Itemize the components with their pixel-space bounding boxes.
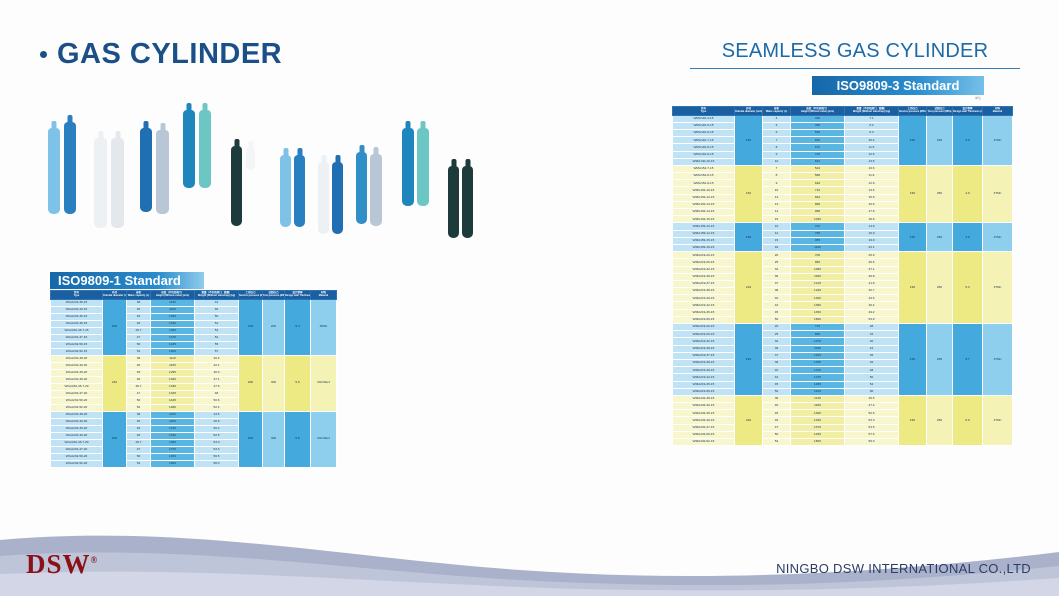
table-cell: 23.1	[845, 244, 899, 251]
gas-cylinder-shape	[318, 162, 329, 234]
table-cell: 52.4	[195, 404, 239, 411]
table-cell: 250	[927, 165, 953, 223]
section-title: SEAMLESS GAS CYLINDER	[690, 40, 1020, 69]
table-cell: 232	[103, 299, 127, 355]
table-cell: 200	[263, 299, 285, 355]
gas-cylinder-shape	[231, 146, 242, 226]
table-cell: 1375	[791, 374, 845, 381]
column-header-5: 工作压力Service pressure (MPa)	[239, 291, 263, 300]
table-row: WMA159-10-151591037014.81502504.237Mn	[673, 223, 1013, 230]
bullet-dot-icon	[40, 51, 47, 58]
company-name: NINGBO DSW INTERNATIONAL CO.,LTD	[776, 561, 1031, 576]
table-cell: WGA232-40-20	[51, 418, 103, 425]
table-cell: 460	[791, 122, 845, 129]
table-cell: 150	[899, 165, 927, 223]
table-row: WMA219-20-1521920715281502505.737Mn	[673, 324, 1013, 331]
table-cell: WMA219-50-15	[673, 388, 735, 395]
table-cell: WGA232-38-20	[51, 355, 103, 362]
table-cell: WGA232-47-15	[51, 334, 103, 341]
table-cell: 37.1	[845, 266, 899, 273]
table-cell: 1360	[151, 439, 195, 446]
table-cell: 45	[127, 369, 151, 376]
column-header-3: 高度（不包括阀门）Height (Without valve) (mm)	[151, 291, 195, 300]
table-cell: 46.7	[127, 439, 151, 446]
table-cell: 8	[763, 173, 791, 180]
table-cell: WMA219-40-15	[673, 367, 735, 374]
table-cell: 9	[763, 180, 791, 187]
table-cell: WGA232-46-15	[51, 320, 103, 327]
table-cell: WMA219-45-15	[673, 309, 735, 316]
table-cell: 15	[763, 237, 791, 244]
table-cell: WMA219-25-15	[673, 331, 735, 338]
table-cell: WMA152-7-15	[673, 165, 735, 172]
table-cell: 150	[899, 115, 927, 165]
table-cell: WGA232-46.7-15	[51, 327, 103, 334]
table-cell: 47.6	[195, 383, 239, 390]
table-cell: 740	[791, 151, 845, 158]
table-cell: 10	[763, 223, 791, 230]
table-cell: 47.4	[845, 403, 899, 410]
table-cell: WMA140-5-15	[673, 122, 735, 129]
table-cell: 50	[195, 313, 239, 320]
cylinder-neck-icon	[297, 148, 302, 156]
table-cell: 1330	[151, 383, 195, 390]
table-cell: 1465	[791, 381, 845, 388]
table-cell: 47	[127, 390, 151, 397]
table-cell: 8	[763, 144, 791, 151]
table-cell: WGA232-50-20	[51, 453, 103, 460]
table-cell: 46	[127, 432, 151, 439]
table-cell: 4.2	[953, 223, 983, 252]
cylinder-neck-icon	[234, 139, 239, 147]
table-cell: WGA232-50-15	[51, 341, 103, 348]
table-cell: WMA219-38-15	[673, 288, 735, 295]
column-header-1: 外径Outside diameter (mm)	[103, 291, 127, 300]
table-cell: 53.3	[195, 446, 239, 453]
table-cell: 250	[927, 115, 953, 165]
table-cell: 30.6	[845, 259, 899, 266]
title-underline	[690, 68, 1020, 69]
column-header-6: 试验压力Test pressure (MPa)	[263, 291, 285, 300]
table-cell: 5.7	[953, 324, 983, 396]
table-cell: 1060	[791, 266, 845, 273]
page-title: GAS CYLINDER	[40, 38, 282, 71]
registered-mark: ®	[91, 555, 99, 565]
table-cell: 40.4	[845, 137, 899, 144]
gas-cylinder-shape	[48, 128, 60, 214]
slide-page: GAS CYLINDER SEAMLESS GAS CYLINDER ISO98…	[0, 0, 1059, 596]
table-cell: 1370	[151, 334, 195, 341]
table-cell: 1300	[791, 295, 845, 302]
table-cell: 700	[791, 252, 845, 259]
table-cell: 1340	[151, 432, 195, 439]
iso9809-3-banner: ISO9809-3 Standard	[812, 76, 984, 95]
table-cell: WGA232-46-20	[51, 376, 103, 383]
table-cell: 150	[899, 252, 927, 324]
table-cell: 5.4	[285, 299, 311, 355]
table-cell: 40	[127, 306, 151, 313]
table-cell: 648	[791, 180, 845, 187]
table-cell: WMA232-38-15	[673, 395, 735, 402]
table-cell: 10.6	[845, 165, 899, 172]
table-cell: 4.0	[953, 165, 983, 223]
gas-cylinder-shape	[370, 154, 382, 226]
table-cell: WMA219-40-15	[673, 295, 735, 302]
table-cell: 53.3	[845, 417, 899, 424]
table-cell: 13.6	[845, 158, 899, 165]
table-cell: WMA219-37-15	[673, 352, 735, 359]
table-cell: 1315	[791, 367, 845, 374]
table-cell: 1130	[151, 299, 195, 306]
table-cell: 715	[791, 324, 845, 331]
gas-cylinder-shape	[356, 152, 367, 224]
table-cell: 59.3	[845, 439, 899, 446]
gas-cylinder-shape	[199, 110, 211, 188]
table-cell: 46.3	[195, 369, 239, 376]
table-cell: 16.9	[845, 230, 899, 237]
table-cell: 1210	[791, 280, 845, 287]
table-cell: WMA140-9-15	[673, 151, 735, 158]
table-cell: 1195	[791, 345, 845, 352]
table-cell: 57.5	[845, 431, 899, 438]
page-title-text: GAS CYLINDER	[57, 38, 282, 71]
table-cell: 40.8	[845, 273, 899, 280]
table-cell: 9.3	[845, 129, 899, 136]
table-cell: 41.8	[845, 280, 899, 287]
table-cell: 52	[127, 404, 151, 411]
table-cell: 14	[763, 209, 791, 216]
table-cell: 46	[127, 376, 151, 383]
table-cell: 1180	[151, 418, 195, 425]
table-cell: WGA232-38-20	[51, 411, 103, 418]
table-cell: 28	[845, 324, 899, 331]
table-cell: 1370	[151, 446, 195, 453]
table-cell: 3.6	[953, 115, 983, 165]
table-cell: 38	[763, 288, 791, 295]
iso9809-1-table: 型号Type外径Outside diameter (mm)容积Water cap…	[50, 290, 337, 468]
table-cell: WMA219-42-15	[673, 302, 735, 309]
table-cell: 16.6	[845, 201, 899, 208]
table-cell: 46	[127, 320, 151, 327]
table-cell: 40	[845, 338, 899, 345]
table-cell: 38	[763, 395, 791, 402]
table-cell: 52.5	[195, 432, 239, 439]
table-cell: 524	[791, 165, 845, 172]
table-cell: WMA219-37-15	[673, 280, 735, 287]
table-cell: 47	[763, 424, 791, 431]
cylinder-neck-icon	[98, 131, 103, 139]
table-cell: WMA152-12-15	[673, 194, 735, 201]
table-cell: 1310	[151, 425, 195, 432]
table-cell: 57	[195, 348, 239, 355]
cylinder-neck-icon	[421, 121, 426, 129]
table-cell: 150	[899, 223, 927, 252]
cylinder-neck-icon	[203, 103, 208, 111]
table-cell: 60	[845, 388, 899, 395]
table-cell: 300	[263, 411, 285, 467]
table-cell: 9	[763, 151, 791, 158]
table-cell: 200	[239, 411, 263, 467]
table-cell: WMA219-38-15	[673, 359, 735, 366]
gas-cylinder-shape	[246, 148, 255, 170]
table-cell: 34CrMo4	[311, 355, 337, 411]
table-cell: WMA159-15-15	[673, 237, 735, 244]
table-cell: 12.5	[845, 151, 899, 158]
table-cell: 42.7	[845, 288, 899, 295]
table-cell: 37	[763, 352, 791, 359]
table-cell: 896	[791, 201, 845, 208]
table-cell: 25.9	[845, 252, 899, 259]
table-cell: 38	[127, 355, 151, 362]
table-cell: WGA232-45-15	[51, 313, 103, 320]
table-cell: WMA219-32-15	[673, 266, 735, 273]
table-cell: 300	[263, 355, 285, 411]
table-cell: 10	[763, 187, 791, 194]
table-cell: 42.1	[195, 362, 239, 369]
table-cell: 200	[239, 355, 263, 411]
table-cell: WGA232-46.7-20	[51, 383, 103, 390]
table-cell: 45	[763, 381, 791, 388]
column-header-7: 设计壁厚Design wall Thickness (mm)	[953, 107, 983, 116]
table-cell: 50.2	[195, 425, 239, 432]
table-cell: 1370	[791, 424, 845, 431]
column-header-0: 型号Type	[673, 107, 735, 116]
table-row: WGA232-38-2023238112544.52003005.834CrMo…	[51, 411, 337, 418]
table-cell: 38	[127, 299, 151, 306]
table-cell: 785	[791, 230, 845, 237]
table-cell: 1360	[151, 327, 195, 334]
table-cell: 48	[845, 367, 899, 374]
table-cell: 5.9	[285, 355, 311, 411]
table-cell: 865	[791, 331, 845, 338]
table-cell: 20	[763, 324, 791, 331]
table-cell: 1345	[151, 390, 195, 397]
table-cell: 1075	[791, 338, 845, 345]
table-cell: 150	[899, 324, 927, 396]
table-cell: 52	[127, 348, 151, 355]
table-cell: 4	[763, 115, 791, 122]
table-cell: WMA140-4-15	[673, 115, 735, 122]
table-cell: WGA232-40-20	[51, 362, 103, 369]
table-cell: 46	[195, 306, 239, 313]
table-cell: 46.5	[195, 418, 239, 425]
cylinder-neck-icon	[187, 103, 192, 111]
gas-cylinder-shape	[417, 128, 429, 206]
table-cell: 38	[763, 359, 791, 366]
table-cell: WGA232-47-20	[51, 390, 103, 397]
table-cell: 1255	[791, 359, 845, 366]
gas-cylinder-shape	[402, 128, 414, 206]
table-cell: 1190	[151, 306, 195, 313]
table-cell: 7.1	[845, 115, 899, 122]
table-cell: 1110	[151, 355, 195, 362]
table-row: WGA232-38-2023238111040.22003005.934CrMo…	[51, 355, 337, 362]
table-cell: WMA219-20-15	[673, 324, 735, 331]
cylinder-neck-icon	[451, 159, 456, 167]
table-cell: 1445	[151, 341, 195, 348]
iso9809-1-banner: ISO9809-1 Standard	[50, 272, 204, 289]
table-cell: WMA232-50-15	[673, 431, 735, 438]
cylinder-neck-icon	[374, 147, 379, 155]
table-cell: 46.7	[127, 383, 151, 390]
table-cell: 150	[899, 395, 927, 445]
cylinder-neck-icon	[68, 115, 73, 123]
gas-cylinder-shape	[294, 155, 305, 227]
table-cell: WMA219-20-15	[673, 252, 735, 259]
table-cell: 850	[791, 259, 845, 266]
table-cell: 32	[763, 338, 791, 345]
table-cell: 50	[127, 397, 151, 404]
table-cell: WMA152-13-15	[673, 201, 735, 208]
table-cell: 52	[195, 334, 239, 341]
table-cell: 5	[763, 122, 791, 129]
table-cell: 232	[103, 411, 127, 467]
table-cell: 1240	[791, 288, 845, 295]
table-cell: WMA219-45-15	[673, 381, 735, 388]
table-cell: 25	[763, 331, 791, 338]
table-cell: WMA219-36-15	[673, 273, 735, 280]
table-row: WMA140-4-1514043907.11502503.637Mn	[673, 115, 1013, 122]
table-cell: 1180	[791, 403, 845, 410]
table-cell: WGA232-38-15	[51, 299, 103, 306]
table-cell: 955	[791, 237, 845, 244]
table-row: WMA219-20-152192070025.91502505.337Mn	[673, 252, 1013, 259]
table-cell: 150	[239, 299, 263, 355]
gas-cylinder-shape	[183, 110, 195, 188]
table-cell: 37Mn	[983, 395, 1013, 445]
table-cell: WGA232-40-15	[51, 306, 103, 313]
column-header-5: 工作压力Service pressure (MPa)	[899, 107, 927, 116]
table-cell: 37	[763, 280, 791, 287]
table-cell: 45	[845, 352, 899, 359]
table-cell: 45	[127, 313, 151, 320]
table-cell: 1425	[151, 397, 195, 404]
table-cell: 40	[127, 362, 151, 369]
table-cell: WMA219-50-15	[673, 316, 735, 323]
table-cell: 42	[763, 302, 791, 309]
table-cell: 19.9	[845, 237, 899, 244]
table-cell: 50	[127, 453, 151, 460]
table-cell: 15	[763, 216, 791, 223]
cylinder-neck-icon	[160, 123, 165, 131]
table-cell: 53.9	[845, 316, 899, 323]
table-cell: 20	[763, 252, 791, 259]
table-cell: 1340	[791, 417, 845, 424]
table-cell: 1450	[151, 453, 195, 460]
gas-cylinder-shape	[64, 122, 76, 214]
table-cell: 33	[845, 331, 899, 338]
table-cell: WGA232-52-20	[51, 460, 103, 467]
table-cell: WMA159-10-15	[673, 223, 735, 230]
iso9809-3-table: 型号Type外径Outside diameter (mm)容积Water cap…	[672, 106, 1013, 446]
table-cell: 8.2	[845, 122, 899, 129]
table-cell: WMA140-7-15	[673, 137, 735, 144]
table-cell: 50	[845, 374, 899, 381]
table-cell: 18.6	[845, 216, 899, 223]
table-cell: 44.5	[845, 295, 899, 302]
gas-cylinder-shape	[280, 155, 291, 227]
gas-cylinder-shape	[448, 166, 459, 238]
table-cell: 1500	[151, 348, 195, 355]
column-header-6: 试验压力Test pressure (MPa)	[927, 107, 953, 116]
table-cell: 37Mn	[983, 324, 1013, 396]
table-cell: 670	[791, 144, 845, 151]
table-cell: 159	[735, 223, 763, 252]
table-cell: 40.2	[195, 355, 239, 362]
table-cell: 30Mn	[311, 299, 337, 355]
table-cell: WMA219-36-15	[673, 345, 735, 352]
table-cell: 54	[845, 381, 899, 388]
table-cell: 13	[763, 201, 791, 208]
table-cell: 250	[927, 324, 953, 396]
table-cell: 37Mn	[983, 115, 1013, 165]
table-cell: WMA232-47-15	[673, 424, 735, 431]
table-cell: WGA232-45-20	[51, 369, 103, 376]
table-cell: 1130	[791, 244, 845, 251]
table-cell: 1130	[791, 395, 845, 402]
table-cell: 47	[127, 446, 151, 453]
gas-cylinder-shape	[111, 138, 124, 228]
table-cell: WGA232-52-15	[51, 348, 103, 355]
table-cell: WMA152-14-15	[673, 209, 735, 216]
table-cell: WGA232-46.7-20	[51, 439, 103, 446]
table-cell: 152	[735, 165, 763, 223]
table-cell: WGA232-50-20	[51, 397, 103, 404]
table-cell: 6.0	[953, 395, 983, 445]
table-cell: WMA232-40-15	[673, 403, 735, 410]
table-row: WGA232-38-15232381130441502005.430Mn	[51, 299, 337, 306]
table-cell: 46.4	[845, 302, 899, 309]
gas-cylinder-shape	[462, 166, 473, 238]
table-cell: 1600	[791, 316, 845, 323]
cylinder-neck-icon	[248, 141, 253, 149]
table-cell: 140	[735, 115, 763, 165]
table-cell: 50	[763, 316, 791, 323]
table-cell: 37Mn	[983, 165, 1013, 223]
table-cell: 1450	[791, 309, 845, 316]
table-cell: 36	[763, 273, 791, 280]
table-cell: 51	[195, 320, 239, 327]
table-cell: 250	[927, 223, 953, 252]
table-cell: 1320	[151, 313, 195, 320]
logo-text: DSW	[26, 549, 91, 579]
table-cell: 12	[763, 230, 791, 237]
table-cell: 1360	[791, 302, 845, 309]
table-cell: 834	[791, 194, 845, 201]
table-cell: 46.7	[127, 327, 151, 334]
table-cell: 38	[127, 411, 151, 418]
table-cell: 7	[763, 165, 791, 172]
table-cell: WMA140-6-15	[673, 129, 735, 136]
cylinder-neck-icon	[52, 121, 57, 129]
unit-note: 单位	[975, 96, 981, 100]
table-cell: WMA232-45-15	[673, 410, 735, 417]
table-cell: 46	[845, 359, 899, 366]
footer: DSW® NINGBO DSW INTERNATIONAL CO.,LTD	[0, 530, 1059, 596]
column-header-4: 重量（不包括阀门、瓶帽）Weight (Without valve/cap) (…	[845, 107, 899, 116]
table-cell: 11.5	[845, 144, 899, 151]
table-cell: WMA232-52-15	[673, 439, 735, 446]
table-cell: 810	[791, 158, 845, 165]
table-cell: WGA232-52-20	[51, 404, 103, 411]
table-cell: 13.6	[845, 187, 899, 194]
table-cell: 958	[791, 209, 845, 216]
table-cell: 54.5	[845, 424, 899, 431]
table-cell: 44	[195, 299, 239, 306]
table-cell: WMA140-10-15	[673, 158, 735, 165]
table-cell: WMA219-42-15	[673, 374, 735, 381]
table-cell: 1615	[791, 388, 845, 395]
